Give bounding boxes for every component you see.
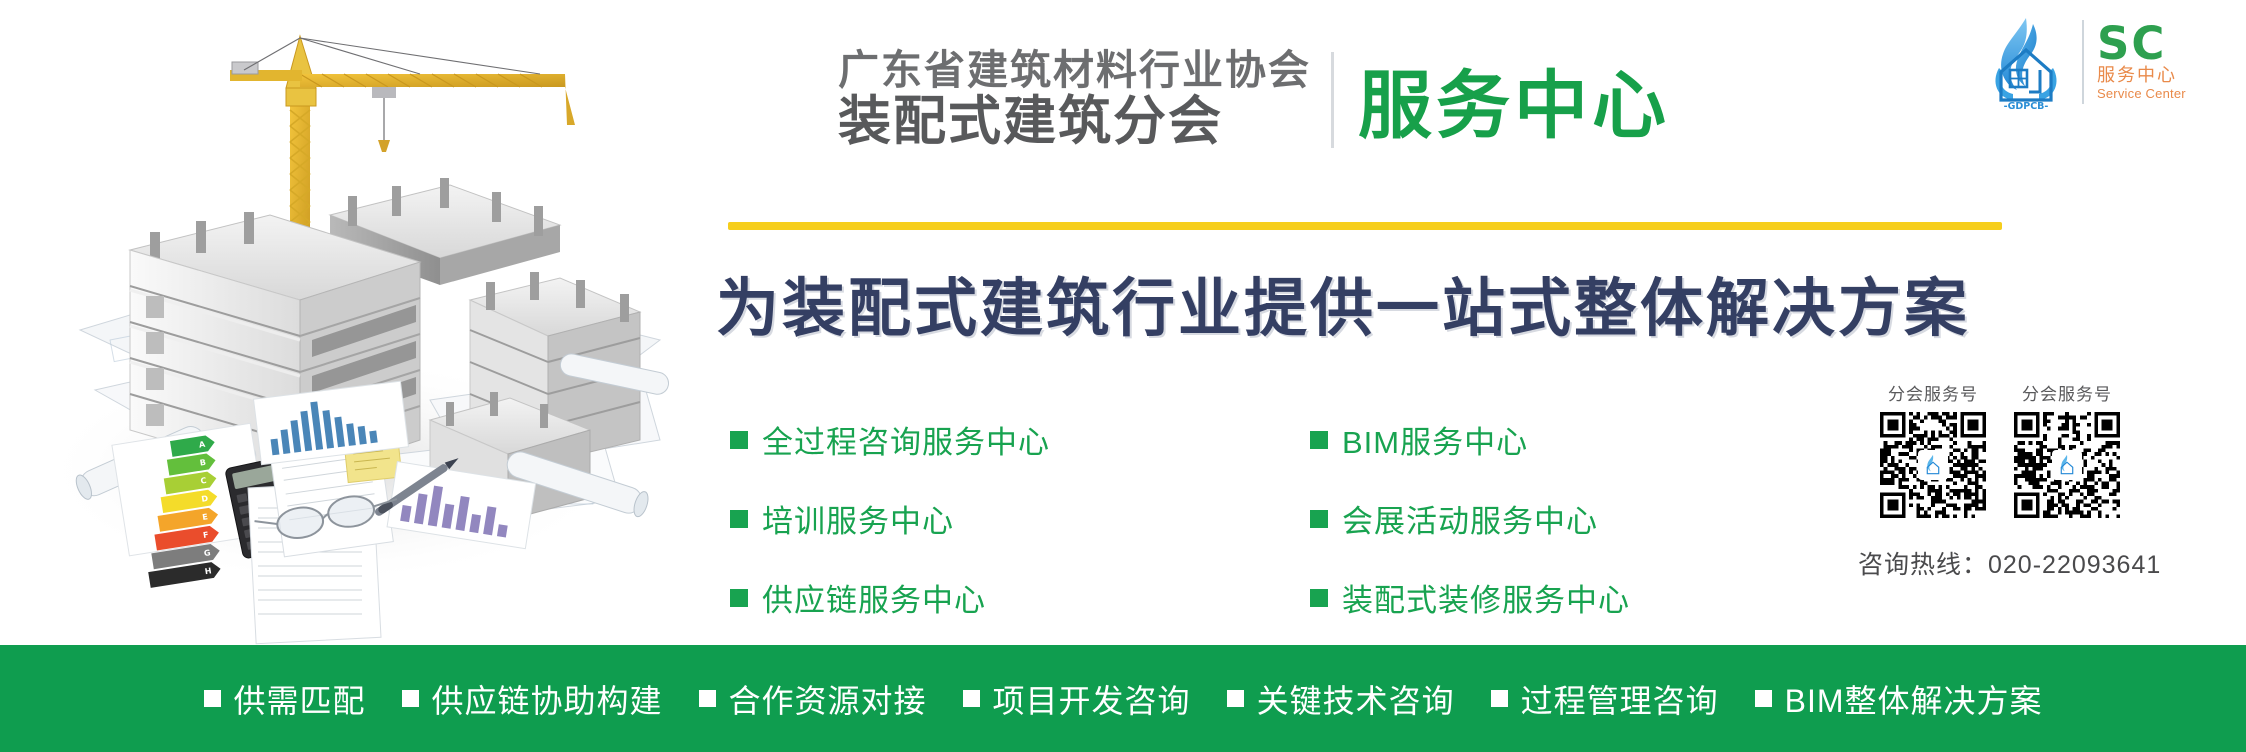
hotline-text: 咨询热线：020-22093641 — [1858, 545, 2161, 581]
svg-text:H: H — [204, 566, 212, 576]
qr-code-item: 分会服务号 — [1880, 380, 1986, 518]
banner-subtitle: 为装配式建筑行业提供一站式整体解决方案 — [716, 258, 1970, 349]
footer-label: BIM整体解决方案 — [1785, 676, 2043, 722]
logo-mark-caption: -GDPCB- — [2004, 101, 2049, 110]
qr-center-logo-icon — [1918, 450, 1948, 480]
logo-divider — [2082, 20, 2084, 104]
footer-item[interactable]: 供需匹配 — [204, 676, 366, 722]
bullet-square-icon — [1491, 690, 1508, 707]
bullet-square-icon — [1310, 589, 1328, 607]
qr-center-logo-icon — [2052, 450, 2082, 480]
footer-label: 供需匹配 — [234, 676, 366, 722]
service-item[interactable]: BIM服务中心 — [1310, 417, 1630, 462]
gdpcb-flame-house-icon: -GDPCB- — [1983, 14, 2069, 110]
gold-divider-rule — [728, 222, 2002, 230]
service-label: BIM服务中心 — [1342, 417, 1528, 462]
footer-label: 供应链协助构建 — [432, 676, 663, 722]
service-label: 全过程咨询服务中心 — [762, 417, 1050, 462]
footer-item[interactable]: BIM整体解决方案 — [1755, 676, 2043, 722]
promotional-banner: ABC DEF GH — [0, 0, 2246, 752]
qr-code-group: 分会服务号 分会服务号 — [1880, 380, 2120, 518]
organization-logo: -GDPCB- SC 服务中心 Service Center — [1983, 12, 2233, 112]
footer-item[interactable]: 过程管理咨询 — [1491, 676, 1719, 722]
qr-code-image[interactable] — [2014, 412, 2120, 518]
bullet-square-icon — [1227, 690, 1244, 707]
footer-item[interactable]: 关键技术咨询 — [1227, 676, 1455, 722]
bullet-square-icon — [402, 690, 419, 707]
service-center-title: 服务中心 — [1358, 46, 1670, 153]
banner-heading: 广东省建筑材料行业协会 装配式建筑分会 服务中心 — [838, 46, 1670, 153]
footer-item[interactable]: 供应链协助构建 — [402, 676, 663, 722]
bullet-square-icon — [204, 690, 221, 707]
bullet-square-icon — [730, 510, 748, 528]
footer-item[interactable]: 合作资源对接 — [699, 676, 927, 722]
logo-english-text: Service Center — [2097, 87, 2186, 101]
qr-caption: 分会服务号 — [2022, 380, 2112, 405]
bullet-square-icon — [699, 690, 716, 707]
svg-text:G: G — [203, 548, 211, 558]
logo-chinese-text: 服务中心 — [2097, 66, 2186, 86]
service-item[interactable]: 供应链服务中心 — [730, 575, 1050, 620]
service-list-right: BIM服务中心 会展活动服务中心 装配式装修服务中心 — [1310, 417, 1630, 620]
qr-code-item: 分会服务号 — [2014, 380, 2120, 518]
bullet-square-icon — [730, 431, 748, 449]
service-label: 供应链服务中心 — [762, 575, 986, 620]
service-item[interactable]: 培训服务中心 — [730, 496, 1050, 541]
bullet-square-icon — [1755, 690, 1772, 707]
footer-label: 过程管理咨询 — [1521, 676, 1719, 722]
service-item[interactable]: 装配式装修服务中心 — [1310, 575, 1630, 620]
footer-label: 关键技术咨询 — [1257, 676, 1455, 722]
service-label: 培训服务中心 — [762, 496, 954, 541]
service-label: 会展活动服务中心 — [1342, 496, 1598, 541]
bullet-square-icon — [1310, 431, 1328, 449]
qr-caption: 分会服务号 — [1888, 380, 1978, 405]
footer-item[interactable]: 项目开发咨询 — [963, 676, 1191, 722]
service-list-left: 全过程咨询服务中心 培训服务中心 供应链服务中心 — [730, 417, 1050, 620]
service-item[interactable]: 会展活动服务中心 — [1310, 496, 1630, 541]
logo-sc-text: SC — [2097, 23, 2186, 66]
footer-label: 项目开发咨询 — [993, 676, 1191, 722]
service-label: 装配式装修服务中心 — [1342, 575, 1630, 620]
bullet-square-icon — [730, 589, 748, 607]
service-item[interactable]: 全过程咨询服务中心 — [730, 417, 1050, 462]
footer-service-bar: 供需匹配 供应链协助构建 合作资源对接 项目开发咨询 关键技术咨询 过程管理咨询… — [0, 645, 2246, 752]
construction-illustration: ABC DEF GH — [0, 0, 680, 645]
bullet-square-icon — [1310, 510, 1328, 528]
heading-divider — [1331, 52, 1334, 148]
qr-code-image[interactable] — [1880, 412, 1986, 518]
association-name: 广东省建筑材料行业协会 — [838, 50, 1311, 92]
bullet-square-icon — [963, 690, 980, 707]
branch-name: 装配式建筑分会 — [838, 95, 1311, 149]
footer-label: 合作资源对接 — [729, 676, 927, 722]
